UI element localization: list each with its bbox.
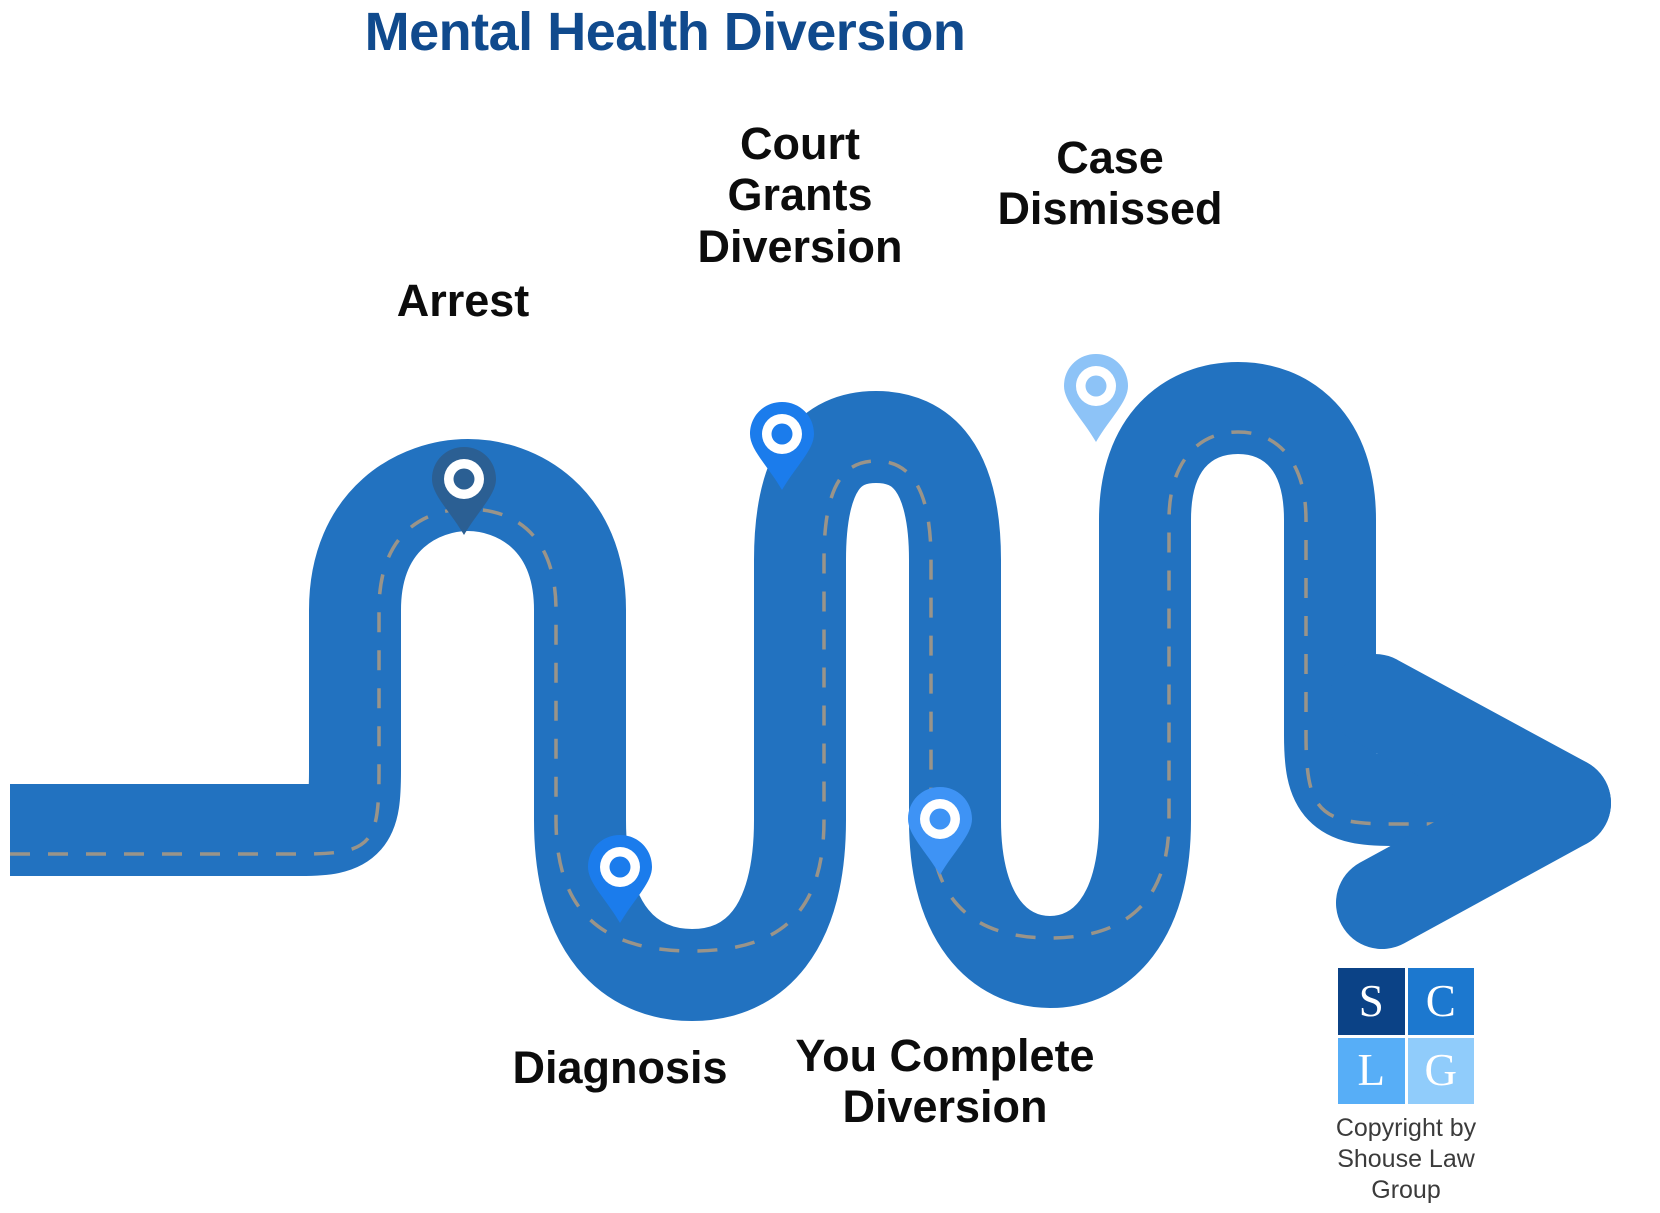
road-stroke [10,408,1490,975]
map-pin-icon-diagnosis[interactable] [584,833,656,925]
step-label-diagnosis: Diagnosis [470,1042,770,1093]
logo-letter-l: L [1338,1038,1405,1105]
step-label-case-dismissed: Case Dismissed [940,132,1280,235]
copyright-notice: Copyright by Shouse Law Group [1308,1113,1504,1206]
logo-letter-s: S [1338,968,1405,1035]
brand-logo-block: S C L G Copyright by Shouse Law Group [1308,968,1504,1206]
logo-letter-c: C [1408,968,1475,1035]
map-pin-icon-complete-diversion[interactable] [904,785,976,877]
step-label-you-complete-diversion: You Complete Diversion [735,1030,1155,1133]
step-label-court-grants-diversion: Court Grants Diversion [640,118,960,272]
infographic-canvas: Mental Health Diversion [0,0,1660,1213]
sclg-logo: S C L G [1338,968,1474,1104]
step-label-arrest: Arrest [318,275,608,326]
map-pin-icon-arrest[interactable] [428,445,500,537]
map-pin-icon-case-dismissed[interactable] [1060,352,1132,444]
map-pin-icon-court[interactable] [746,400,818,492]
logo-letter-g: G [1408,1038,1475,1105]
